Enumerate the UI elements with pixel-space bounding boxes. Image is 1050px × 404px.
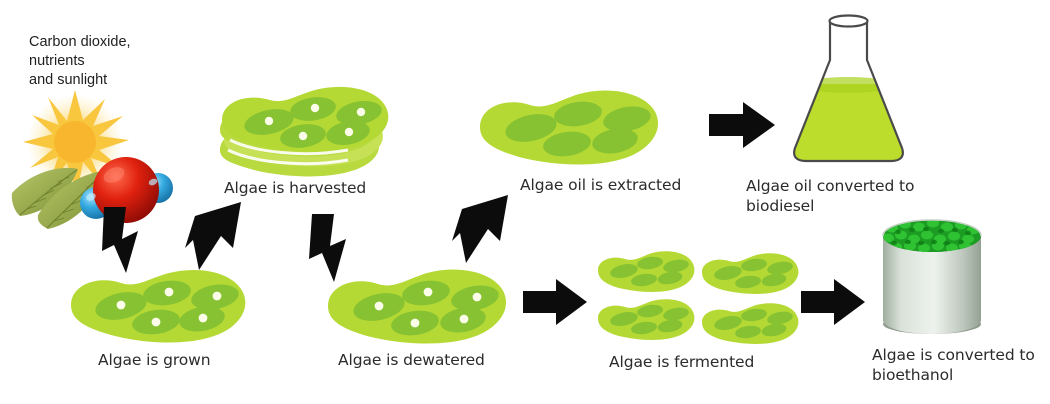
step-label-bioethanol: Algae is converted to bioethanol — [872, 345, 1035, 385]
algae-blob-grown — [63, 263, 253, 348]
fermented-blob-4 — [702, 303, 798, 344]
algae-blob-oil-extracted — [472, 83, 667, 168]
fermented-blob-2 — [702, 253, 798, 294]
arrow-grown-to-harvested — [183, 200, 247, 272]
inputs-caption: Carbon dioxide, nutrients and sunlight — [29, 33, 131, 90]
arrow-fermented-to-bioethanol — [799, 277, 867, 327]
algae-blob-dewatered — [320, 262, 515, 347]
algae-biofuel-diagram: Carbon dioxide, nutrients and sunlight — [0, 0, 1050, 404]
sun-co2-leaves-svg — [0, 85, 190, 230]
storage-tank-icon — [876, 216, 988, 336]
fermented-blob-3 — [598, 299, 694, 340]
arrow-oil-to-biodiesel — [707, 100, 777, 150]
step-label-dewatered: Algae is dewatered — [338, 350, 485, 370]
algae-stack-harvested — [208, 78, 408, 178]
step-label-grown: Algae is grown — [98, 350, 210, 370]
step-label-biodiesel: Algae oil converted to biodiesel — [746, 176, 914, 216]
step-label-fermented: Algae is fermented — [609, 352, 754, 372]
step-label-harvested: Algae is harvested — [224, 178, 366, 198]
erlenmeyer-flask-group — [786, 6, 911, 171]
arrow-dewatered-to-fermented — [521, 277, 589, 327]
storage-tank-group — [876, 216, 988, 341]
arrow-dewatered-to-oil — [450, 193, 514, 265]
step-label-oil-extracted: Algae oil is extracted — [520, 175, 681, 195]
erlenmeyer-flask-icon — [786, 6, 911, 166]
fermented-blob-1 — [598, 251, 694, 292]
sun-and-co2-group — [0, 85, 190, 230]
algae-cluster-fermented — [594, 248, 789, 348]
